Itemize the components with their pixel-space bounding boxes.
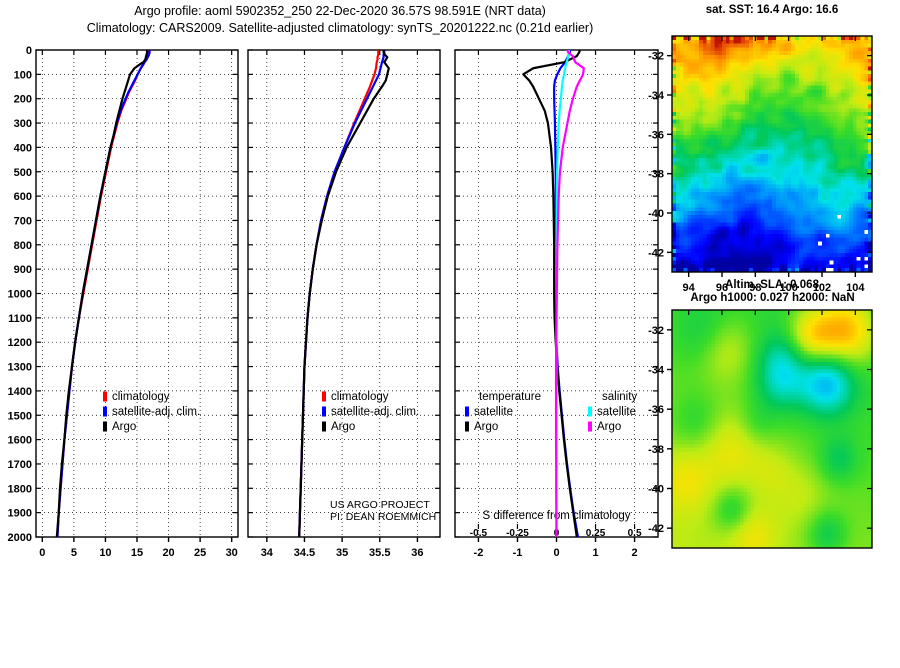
svg-text:36: 36 (411, 547, 423, 559)
svg-text:US ARGO PROJECT: US ARGO PROJECT (330, 499, 430, 511)
svg-text:satellite-adj. clim.: satellite-adj. clim. (112, 406, 200, 418)
svg-text:35: 35 (336, 547, 348, 559)
svg-text:1300: 1300 (8, 362, 32, 374)
svg-text:-2: -2 (474, 547, 484, 559)
svg-text:100: 100 (779, 282, 797, 294)
svg-text:94: 94 (683, 282, 696, 294)
svg-text:1900: 1900 (8, 508, 32, 520)
svg-text:0: 0 (553, 547, 559, 559)
svg-text:500: 500 (14, 167, 32, 179)
map-panels: 949698100102104-32-34-36-38-40-42-32-34-… (634, 0, 900, 580)
svg-text:900: 900 (14, 264, 32, 276)
svg-text:20: 20 (162, 547, 174, 559)
svg-text:Argo: Argo (474, 421, 498, 433)
svg-text:200: 200 (14, 94, 32, 106)
svg-text:96: 96 (716, 282, 728, 294)
svg-text:salinity: salinity (602, 391, 637, 403)
svg-text:400: 400 (14, 142, 32, 154)
svg-text:98: 98 (749, 282, 761, 294)
svg-text:0.25: 0.25 (586, 528, 606, 539)
svg-text:Argo: Argo (331, 421, 355, 433)
svg-text:-32: -32 (648, 51, 664, 63)
svg-text:34: 34 (261, 547, 274, 559)
svg-text:-36: -36 (648, 129, 664, 141)
svg-text:100: 100 (14, 69, 32, 81)
svg-text:-34: -34 (648, 90, 665, 102)
svg-text:2000: 2000 (8, 532, 32, 544)
profile-plots: 0510152025303434.53535.536-2-10120100200… (0, 0, 672, 580)
svg-text:1: 1 (592, 547, 598, 559)
svg-text:Argo: Argo (597, 421, 621, 433)
svg-text:satellite: satellite (597, 406, 636, 418)
svg-text:PI: DEAN ROEMMICH: PI: DEAN ROEMMICH (330, 511, 436, 523)
svg-text:25: 25 (194, 547, 206, 559)
svg-text:1200: 1200 (8, 337, 32, 349)
svg-text:satellite: satellite (474, 406, 513, 418)
svg-text:1800: 1800 (8, 483, 32, 495)
svg-text:104: 104 (846, 282, 865, 294)
svg-text:Argo: Argo (112, 421, 136, 433)
svg-text:700: 700 (14, 215, 32, 227)
svg-text:30: 30 (226, 547, 238, 559)
svg-text:-40: -40 (648, 208, 664, 220)
svg-text:600: 600 (14, 191, 32, 203)
svg-text:climatology: climatology (112, 391, 170, 403)
svg-text:1700: 1700 (8, 459, 32, 471)
svg-text:102: 102 (813, 282, 831, 294)
svg-text:1100: 1100 (8, 313, 32, 325)
svg-text:35.5: 35.5 (369, 547, 390, 559)
svg-text:1000: 1000 (8, 289, 32, 301)
svg-text:-38: -38 (648, 169, 664, 181)
svg-text:300: 300 (14, 118, 32, 130)
svg-text:800: 800 (14, 240, 32, 252)
svg-text:-1: -1 (513, 547, 523, 559)
svg-text:10: 10 (99, 547, 111, 559)
svg-text:0: 0 (39, 547, 45, 559)
svg-text:-0.5: -0.5 (470, 528, 488, 539)
svg-text:-0.25: -0.25 (506, 528, 529, 539)
svg-text:1500: 1500 (8, 410, 32, 422)
svg-text:1600: 1600 (8, 435, 32, 447)
svg-text:satellite-adj. clim.: satellite-adj. clim. (331, 406, 419, 418)
svg-text:5: 5 (71, 547, 77, 559)
svg-text:34.5: 34.5 (294, 547, 315, 559)
svg-text:15: 15 (131, 547, 143, 559)
svg-text:climatology: climatology (331, 391, 389, 403)
svg-text:1400: 1400 (8, 386, 32, 398)
svg-text:-42: -42 (648, 247, 664, 259)
svg-text:0: 0 (26, 45, 32, 57)
svg-text:temperature: temperature (479, 391, 541, 403)
